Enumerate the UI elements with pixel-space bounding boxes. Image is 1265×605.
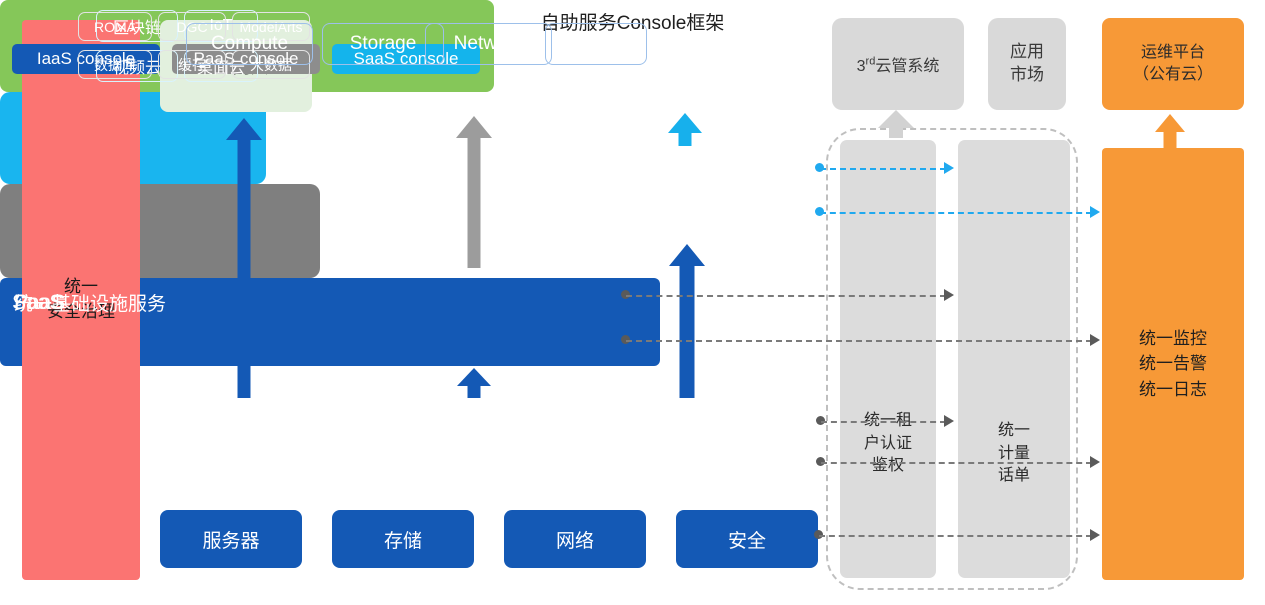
unified-metering-billing-column: 统一 计量 话单 xyxy=(958,140,1070,578)
arrow-saas-to-console xyxy=(667,113,703,146)
auth-line-3: 鉴权 xyxy=(840,455,936,478)
connector-paas-to-ops xyxy=(626,340,1092,342)
infrastructure-label: 统一基础设施服务 xyxy=(14,0,166,605)
connector-arrowhead-resources-ops xyxy=(1090,529,1100,541)
connector-arrowhead-paas-auth xyxy=(944,289,954,301)
connector-infra-to-auth xyxy=(821,421,946,423)
app-market-line-2: 市场 xyxy=(1010,64,1044,87)
connector-resources-to-ops xyxy=(819,535,1092,537)
connector-saas-to-ops xyxy=(820,212,1092,214)
connector-paas-to-auth xyxy=(626,295,946,297)
third-party-cloud-management-box: 3rd云管系统 xyxy=(832,18,964,110)
app-market-line-1: 应用 xyxy=(1010,41,1044,64)
ops-panel-line-2: 统一告警 xyxy=(1139,351,1207,377)
infra-chip-cce[interactable]: CCE xyxy=(545,23,647,65)
third-party-cloud-label: 3rd云管系统 xyxy=(857,52,940,76)
architecture-diagram: 统一 安全治理 API网关 自助服务Console框架 IaaS console… xyxy=(0,0,1265,605)
connector-arrowhead-paas-ops xyxy=(1090,334,1100,346)
meter-line-3: 话单 xyxy=(958,465,1070,488)
ops-platform-line-1: 运维平台 xyxy=(1133,42,1213,64)
meter-line-1: 统一 xyxy=(958,420,1070,443)
infra-chip-network[interactable]: Network xyxy=(425,23,552,65)
ops-platform-line-2: （公有云） xyxy=(1133,64,1213,86)
metering-column-label: 统一 计量 话单 xyxy=(958,420,1070,488)
arrow-infra-to-paas xyxy=(457,368,491,398)
resource-box-storage: 存储 xyxy=(332,510,474,568)
ops-monitoring-panel: 统一监控 统一告警 统一日志 xyxy=(1102,148,1244,580)
ops-panel-line-3: 统一日志 xyxy=(1139,377,1207,403)
resource-box-server: 服务器 xyxy=(160,510,302,568)
connector-arrowhead-infra-auth xyxy=(944,415,954,427)
connector-arrowhead-saas-auth xyxy=(944,162,954,174)
arrow-shared-to-third-party-cloud xyxy=(878,110,914,138)
arrow-infra-to-api-gateway xyxy=(226,118,262,398)
connector-arrowhead-infra-ops xyxy=(1090,456,1100,468)
app-market-box: 应用 市场 xyxy=(988,18,1066,110)
connector-infra-to-ops xyxy=(821,462,1092,464)
infra-chip-compute[interactable]: Compute xyxy=(186,23,313,65)
unified-infrastructure-box: 统一基础设施服务 Compute Storage Network CCE xyxy=(0,278,660,366)
connector-arrowhead-saas-ops xyxy=(1090,206,1100,218)
resource-box-network: 网络 xyxy=(504,510,646,568)
resource-box-security: 安全 xyxy=(676,510,818,568)
ops-platform-box: 运维平台 （公有云） xyxy=(1102,18,1244,110)
auth-line-2: 户认证 xyxy=(840,433,936,456)
unified-tenant-auth-column: 统一租 户认证 鉴权 xyxy=(840,140,936,578)
arrow-infra-to-saas xyxy=(669,244,705,398)
arrow-ops-panel-to-ops-platform xyxy=(1155,114,1185,150)
connector-saas-to-auth xyxy=(820,168,946,170)
arrow-paas-to-console xyxy=(456,116,492,268)
ops-panel-line-1: 统一监控 xyxy=(1139,326,1207,352)
